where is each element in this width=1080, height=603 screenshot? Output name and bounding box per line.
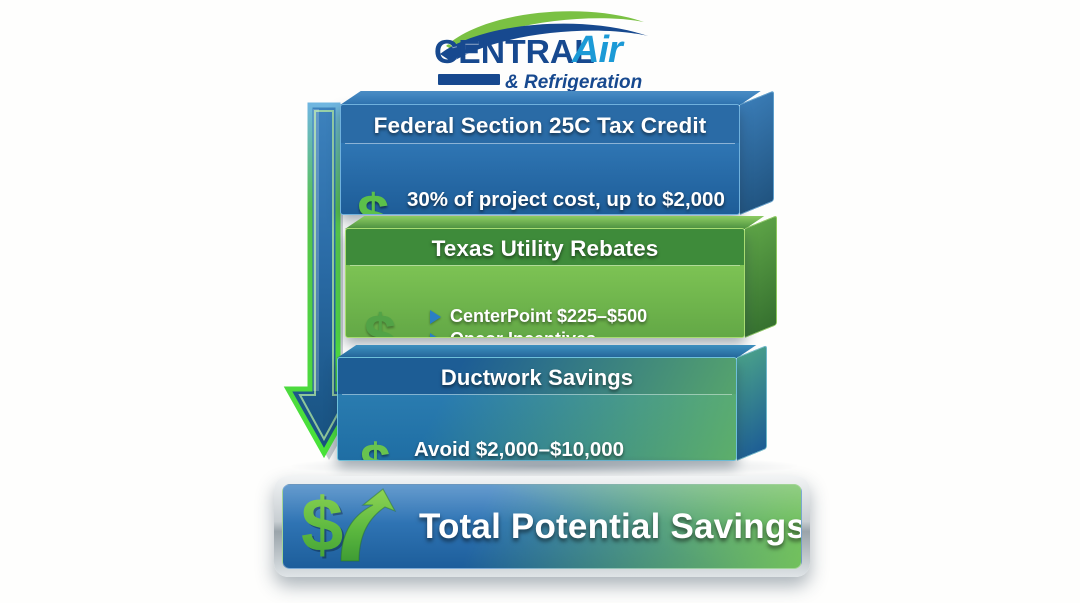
stack-base-shadow xyxy=(292,455,797,477)
logo-word-central: CENTRAL xyxy=(434,35,595,68)
dollar-sign-up-arrow-icon: $ $ xyxy=(297,485,419,569)
total-savings-label: Total Potential Savings xyxy=(419,507,802,547)
card-3d-side-face xyxy=(737,345,767,461)
svg-text:$: $ xyxy=(301,485,343,568)
triangle-bullet-icon xyxy=(430,333,441,339)
logo-word-air: Air xyxy=(572,31,622,69)
rebate-list: CenterPoint $225–$500 Oncor Incentives A… xyxy=(430,305,742,338)
dollar-sign-icon: $ xyxy=(357,187,389,215)
card-title: Ductwork Savings xyxy=(338,358,736,394)
company-logo: CENTRAL Air & Refrigeration xyxy=(426,8,656,96)
logo-subtitle: & Refrigeration xyxy=(505,73,642,92)
card-title: Federal Section 25C Tax Credit xyxy=(341,105,739,143)
triangle-bullet-icon xyxy=(430,310,441,324)
card-primary-text: 30% of project cost, up to $2,000 xyxy=(407,188,737,212)
card-title: Texas Utility Rebates xyxy=(346,229,744,265)
list-item-label: CenterPoint $225–$500 xyxy=(450,306,647,327)
benefit-card-ductwork-savings[interactable]: Ductwork Savings $ Avoid $2,000–$10,000 … xyxy=(337,357,737,461)
card-divider xyxy=(350,265,740,266)
card-3d-side-face xyxy=(745,215,777,338)
card-3d-top-face xyxy=(340,91,761,105)
dollar-sign-icon: $ xyxy=(364,307,396,338)
list-item-label: Oncor Incentives xyxy=(450,329,596,338)
card-divider xyxy=(345,143,735,144)
benefit-card-texas-utility-rebates[interactable]: Texas Utility Rebates $ CenterPoint $225… xyxy=(345,228,745,338)
list-item: CenterPoint $225–$500 xyxy=(430,305,742,328)
card-3d-side-face xyxy=(740,90,774,215)
logo-underline-bar xyxy=(438,74,500,85)
benefit-card-federal-tax-credit[interactable]: Federal Section 25C Tax Credit $ 30% of … xyxy=(340,104,740,215)
card-divider xyxy=(342,394,732,395)
list-item: Oncor Incentives xyxy=(430,328,742,338)
total-savings-bar[interactable]: $ $ Total Potential Savings xyxy=(274,476,810,577)
